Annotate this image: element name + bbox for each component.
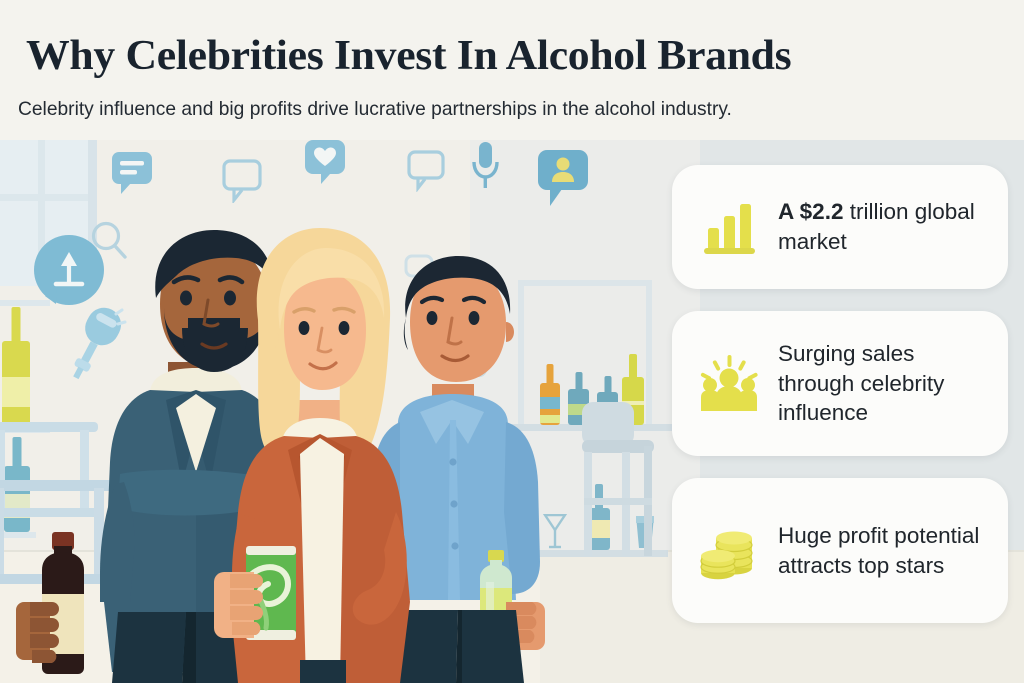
stat-card-profit-potential[interactable]: Huge profit potential attracts top stars (672, 478, 1008, 623)
infographic-canvas: Why Celebrities Invest In Alcohol Brands… (0, 0, 1024, 683)
page-subtitle: Celebrity influence and big profits driv… (18, 98, 732, 121)
people-illustration (0, 132, 700, 683)
stat-card-market-size[interactable]: A $2.2 trillion global market (672, 165, 1008, 289)
header-band: Why Celebrities Invest In Alcohol Brands… (0, 0, 1024, 140)
stat-card-text: A $2.2 trillion global market (778, 197, 986, 256)
wine-bottle (16, 532, 84, 674)
page-title: Why Celebrities Invest In Alcohol Brands (26, 35, 791, 77)
coin-stack-icon (696, 520, 762, 582)
stats-card-list: A $2.2 trillion global market (672, 165, 1008, 645)
stat-value: A $2.2 (778, 199, 843, 224)
stat-label: Huge profit potential attracts top stars (778, 523, 979, 578)
people-surge-icon (696, 353, 762, 415)
stat-card-text: Huge profit potential attracts top stars (778, 521, 986, 580)
bar-chart-icon (696, 196, 762, 258)
stat-card-text: Surging sales through celebrity influenc… (778, 339, 986, 428)
stat-label: Surging sales through celebrity influenc… (778, 341, 944, 425)
stat-card-surging-sales[interactable]: Surging sales through celebrity influenc… (672, 311, 1008, 456)
